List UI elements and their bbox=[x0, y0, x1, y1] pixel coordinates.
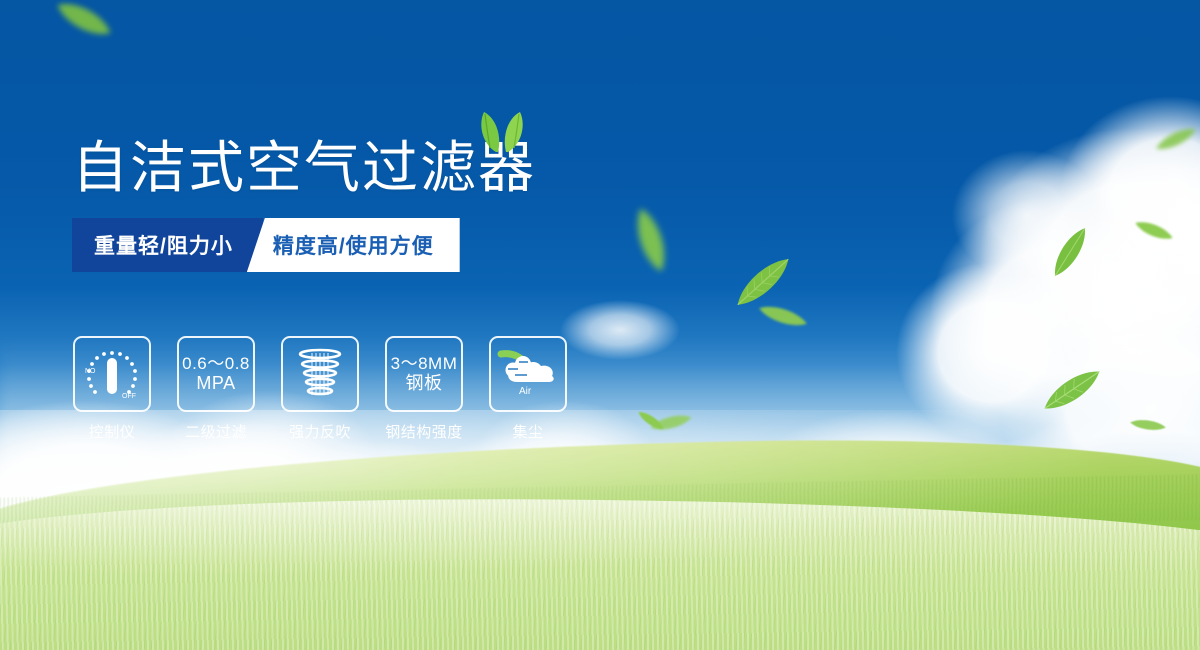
product-hero-banner: 自洁式空气过滤器 重量轻/阻力小 精度高/使用方便 bbox=[0, 0, 1200, 650]
feature-icon-box: NO OFF bbox=[73, 336, 151, 412]
feature-label: 控制仪 bbox=[89, 421, 136, 442]
feature-icon-box bbox=[281, 336, 359, 412]
front-hill-texture bbox=[0, 494, 1200, 650]
feature-icon-box: Air bbox=[489, 336, 567, 412]
feature-badge: 重量轻/阻力小 精度高/使用方便 bbox=[72, 218, 460, 272]
badge-right-text: 精度高/使用方便 bbox=[247, 218, 460, 272]
badge-left-text: 重量轻/阻力小 bbox=[72, 218, 263, 272]
feature-icon-box: 3～8MM 钢板 bbox=[385, 336, 463, 412]
feature-label: 集尘 bbox=[512, 421, 543, 442]
air-label: Air bbox=[519, 386, 532, 397]
page-title: 自洁式空气过滤器 bbox=[72, 140, 712, 196]
steel-plate-text-icon: 3～8MM 钢板 bbox=[391, 354, 458, 393]
filter-coil-icon bbox=[293, 345, 347, 403]
feature-item-steel-strength[interactable]: 3～8MM 钢板 钢结构强度 bbox=[384, 336, 464, 442]
feature-icon-box: 0.6～0.8 MPA bbox=[177, 336, 255, 412]
hero-content: 自洁式空气过滤器 重量轻/阻力小 精度高/使用方便 bbox=[72, 140, 712, 272]
feature-item-control-gauge[interactable]: NO OFF 控制仪 bbox=[72, 336, 152, 442]
feature-icon-line2: 钢板 bbox=[391, 373, 458, 393]
air-cloud-icon: Air bbox=[497, 350, 559, 398]
gauge-icon: NO OFF bbox=[82, 345, 142, 403]
gauge-off-text: OFF bbox=[122, 393, 136, 400]
feature-item-dust-collection[interactable]: Air 集尘 bbox=[488, 336, 568, 442]
feature-label: 二级过滤 bbox=[185, 421, 247, 442]
sprout-icon bbox=[470, 108, 534, 159]
feature-icon-line2: MPA bbox=[182, 373, 250, 393]
feature-label: 钢结构强度 bbox=[385, 421, 463, 442]
feature-icon-line1: 3～8MM bbox=[391, 354, 458, 373]
pressure-text-icon: 0.6～0.8 MPA bbox=[182, 354, 250, 393]
feature-item-secondary-filter[interactable]: 0.6～0.8 MPA 二级过滤 bbox=[176, 336, 256, 442]
feature-item-reverse-blow[interactable]: 强力反吹 bbox=[280, 336, 360, 442]
gauge-on-text: NO bbox=[85, 368, 96, 375]
feature-label: 强力反吹 bbox=[289, 421, 351, 442]
feature-list: NO OFF 控制仪 0.6～0.8 MPA 二级过滤 bbox=[72, 336, 568, 442]
grass-field bbox=[0, 410, 1200, 650]
feature-icon-line1: 0.6～0.8 bbox=[182, 354, 250, 373]
